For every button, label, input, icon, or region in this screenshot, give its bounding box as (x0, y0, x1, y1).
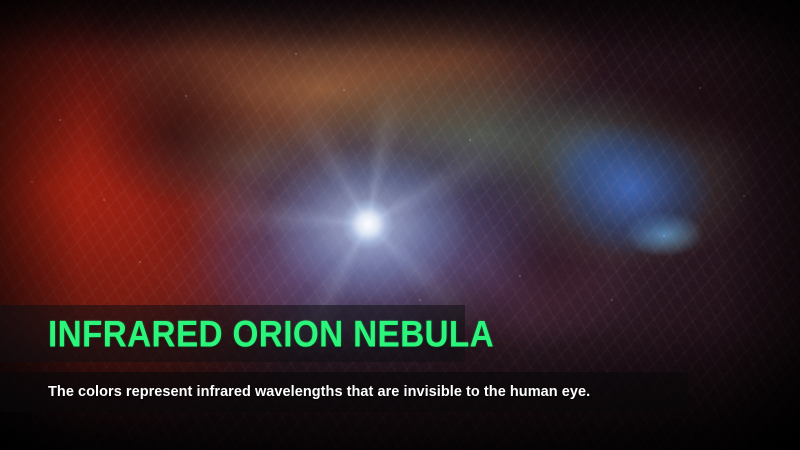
subtitle-banner: The colors represent infrared wavelength… (0, 372, 688, 412)
video-frame: INFRARED ORION NEBULA The colors represe… (0, 0, 800, 450)
caption-subtitle: The colors represent infrared wavelength… (48, 385, 590, 400)
title-banner: INFRARED ORION NEBULA (0, 305, 465, 362)
caption-title: INFRARED ORION NEBULA (48, 315, 494, 352)
lower-third-caption: INFRARED ORION NEBULA The colors represe… (0, 305, 800, 367)
